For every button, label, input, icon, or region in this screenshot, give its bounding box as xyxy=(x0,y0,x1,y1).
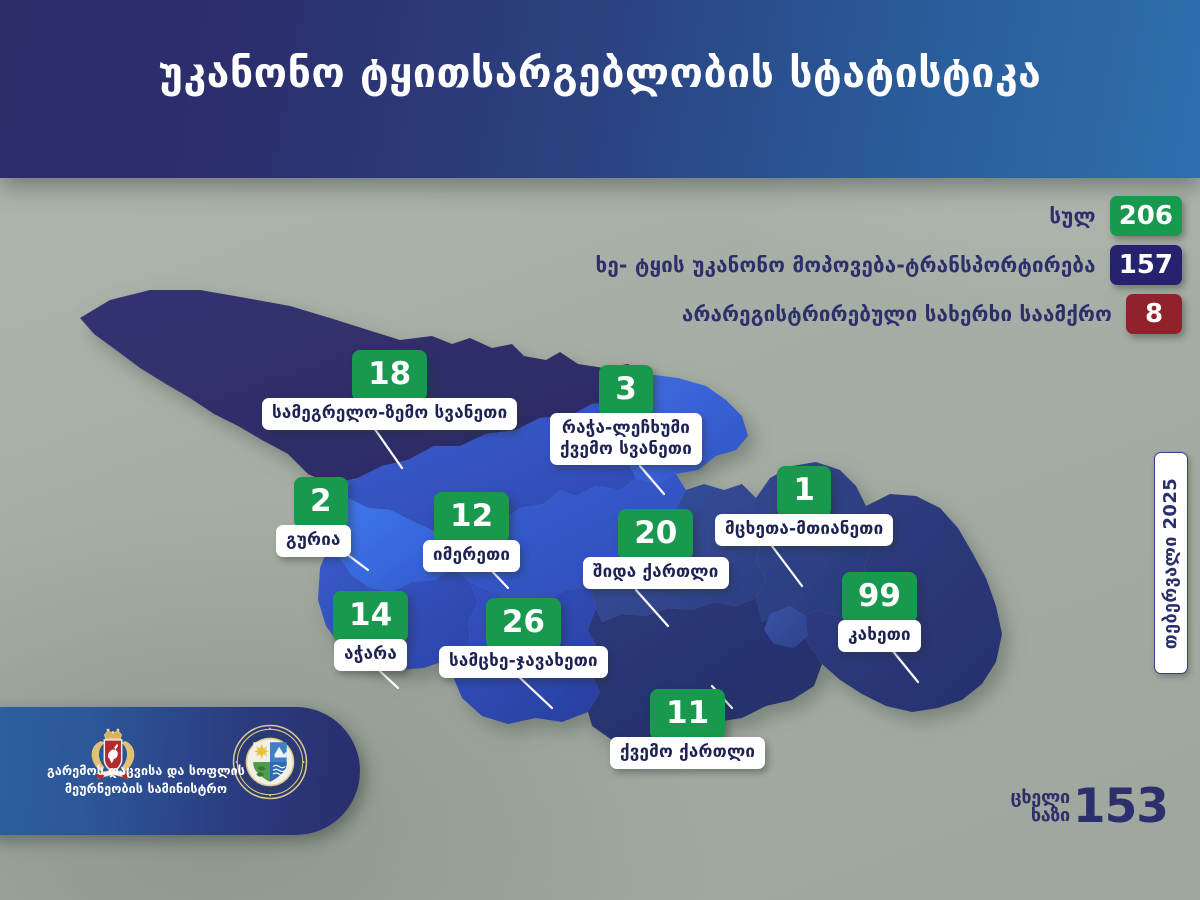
callout-badge-kakheti: 99 xyxy=(842,572,917,623)
legend-value-unregistered: 8 xyxy=(1126,294,1182,334)
callout-badge-mtskheta: 1 xyxy=(777,466,831,517)
callout-label-guria: გურია xyxy=(276,525,351,557)
hotline-label: ცხელი ხაზი xyxy=(1010,789,1069,825)
legend-label-total: სულ xyxy=(1049,204,1095,228)
callout-badge-racha: 3 xyxy=(599,365,653,416)
callout-samegrelo[interactable]: 18 სამეგრელო-ზემო სვანეთი xyxy=(262,350,517,430)
callout-racha[interactable]: 3 რაჭა-ლეჩხუმი ქვემო სვანეთი xyxy=(550,365,702,465)
legend-label-unregistered: არარეგისტრირებული სახერხი საამქრო xyxy=(682,302,1112,326)
legend: სულ 206 ხე- ტყის უკანონო მოპოვება-ტრანსპ… xyxy=(596,196,1183,334)
callout-label-samtskhe: სამცხე-ჯავახეთი xyxy=(439,646,608,678)
callout-badge-samtskhe: 26 xyxy=(486,598,561,649)
callout-label-racha: რაჭა-ლეჩხუმი ქვემო სვანეთი xyxy=(550,413,702,465)
callout-badge-kvemo: 11 xyxy=(650,689,725,740)
hotline[interactable]: ცხელი ხაზი 153 xyxy=(1010,786,1168,828)
callout-kvemo[interactable]: 11 ქვემო ქართლი xyxy=(610,689,765,769)
date-badge-label: თებერვალი 2025 xyxy=(1161,477,1182,648)
callout-label-kvemo: ქვემო ქართლი xyxy=(610,737,765,769)
callout-badge-samegrelo: 18 xyxy=(352,350,427,401)
callout-label-mtskheta: მცხეთა-მთიანეთი xyxy=(715,514,893,546)
callout-badge-adjara: 14 xyxy=(333,591,408,642)
callout-badge-shida: 20 xyxy=(618,509,693,560)
callout-shida[interactable]: 20 შიდა ქართლი xyxy=(583,509,729,589)
callout-badge-guria: 2 xyxy=(294,477,348,528)
ministry-name: გარემოს დაცვისა და სოფლის მეურნეობის სამ… xyxy=(16,762,276,798)
callout-label-shida: შიდა ქართლი xyxy=(583,557,729,589)
legend-row-transport: ხე- ტყის უკანონო მოპოვება-ტრანსპორტირება… xyxy=(596,245,1183,285)
callout-label-kakheti: კახეთი xyxy=(838,620,921,652)
callout-samtskhe[interactable]: 26 სამცხე-ჯავახეთი xyxy=(439,598,608,678)
page-title: უკანონო ტყითსარგებლობის სტატისტიკა xyxy=(0,50,1200,97)
callout-imereti[interactable]: 12 იმერეთი xyxy=(423,492,520,572)
callout-kakheti[interactable]: 99 კახეთი xyxy=(838,572,921,652)
callout-adjara[interactable]: 14 აჭარა xyxy=(333,591,408,671)
callout-label-adjara: აჭარა xyxy=(334,639,407,671)
hotline-number: 153 xyxy=(1073,786,1168,828)
legend-row-total: სულ 206 xyxy=(1049,196,1182,236)
date-badge: თებერვალი 2025 xyxy=(1154,452,1188,674)
callout-label-samegrelo: სამეგრელო-ზემო სვანეთი xyxy=(262,398,517,430)
callout-guria[interactable]: 2 გურია xyxy=(276,477,351,557)
callout-badge-imereti: 12 xyxy=(434,492,509,543)
legend-value-transport: 157 xyxy=(1110,245,1182,285)
legend-value-total: 206 xyxy=(1110,196,1182,236)
legend-row-unregistered: არარეგისტრირებული სახერხი საამქრო 8 xyxy=(682,294,1182,334)
legend-label-transport: ხე- ტყის უკანონო მოპოვება-ტრანსპორტირება xyxy=(596,253,1096,277)
hotline-label-line2: ხაზი xyxy=(1010,807,1069,825)
header-banner: უკანონო ტყითსარგებლობის სტატისტიკა xyxy=(0,0,1200,178)
callout-label-imereti: იმერეთი xyxy=(423,540,520,572)
callout-mtskheta[interactable]: 1 მცხეთა-მთიანეთი xyxy=(715,466,893,546)
